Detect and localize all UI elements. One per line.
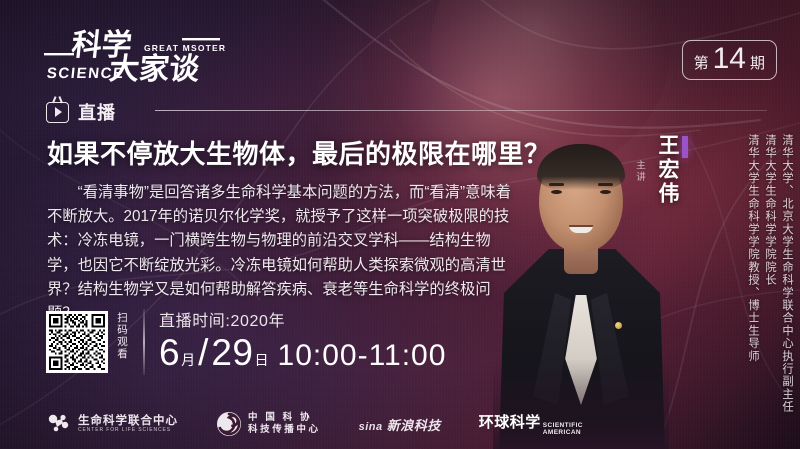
svg-text:GREAT MSOTER: GREAT MSOTER bbox=[144, 43, 226, 53]
sciam-name-cn: 环球科学 bbox=[479, 411, 541, 432]
schedule-day: 29 bbox=[211, 334, 253, 371]
sina-wordmark-cn: 新浪科技 bbox=[387, 418, 441, 433]
sponsor-logo-sciam: 环球科学 SCIENTIFIC AMERICAN bbox=[479, 411, 583, 437]
tv-play-icon bbox=[46, 102, 69, 123]
accent-bar bbox=[682, 136, 688, 158]
cls-mark-icon bbox=[46, 411, 72, 437]
description-paragraph: “看清事物”是回答诸多生命科学基本问题的方法，而“看清”意味着不断放大。2017… bbox=[47, 181, 517, 326]
qr-caption: 扫码观看 bbox=[115, 312, 128, 372]
page-title: 如果不停放大生物体，最后的极限在哪里？ bbox=[47, 134, 551, 171]
schedule-month: 6 bbox=[159, 334, 180, 371]
speaker-info: 清华大学生命科学学院教授、博士生导师 清华大学生命科学学院院长 清华大学、北京大… bbox=[743, 134, 794, 374]
speaker-title-2: 清华大学生命科学学院院长 bbox=[762, 134, 777, 286]
speaker-name-block: 主讲 王宏伟 bbox=[631, 134, 692, 206]
schedule-time: 10:00-11:00 bbox=[278, 341, 447, 371]
sponsor-logo-sina: sina 新浪科技 bbox=[359, 415, 441, 434]
sciam-name-en-line2: AMERICAN bbox=[543, 430, 583, 437]
episode-prefix: 第 bbox=[694, 56, 709, 71]
episode-badge: 第 14 期 bbox=[682, 40, 777, 80]
cast-line-2: 科技传播中心 bbox=[248, 424, 321, 436]
qr-section: 扫码观看 bbox=[46, 311, 128, 373]
cls-name-cn: 生命科学联合中心 bbox=[78, 415, 178, 428]
speaker-role-label: 主讲 bbox=[632, 160, 646, 183]
svg-text:SCIENCE: SCIENCE bbox=[46, 65, 126, 82]
cast-line-1: 中 国 科 协 bbox=[248, 412, 321, 424]
schedule-day-unit: 日 bbox=[255, 353, 269, 367]
cast-spiral-icon bbox=[216, 411, 242, 437]
cls-name-en: CENTER FOR LIFE SCIENCES bbox=[78, 428, 178, 434]
schedule-separator: / bbox=[198, 334, 208, 371]
program-logo: 科学 大家谈 SCIENCE GREAT MSOTER bbox=[44, 24, 234, 86]
qr-date-divider bbox=[143, 309, 145, 375]
schedule-month-unit: 月 bbox=[181, 353, 195, 367]
qr-code[interactable] bbox=[46, 311, 108, 373]
schedule-label: 直播时间:2020年 bbox=[159, 307, 446, 331]
live-label: 直播 bbox=[78, 99, 116, 125]
live-event-poster: 科学 大家谈 SCIENCE GREAT MSOTER 第 14 期 直播 如果… bbox=[0, 0, 800, 449]
live-indicator: 直播 bbox=[46, 99, 116, 125]
sina-wordmark-en: sina bbox=[359, 421, 383, 433]
schedule-block: 直播时间:2020年 6 月 / 29 日 10:00-11:00 bbox=[159, 307, 446, 371]
speaker-name: 王宏伟 bbox=[652, 134, 682, 206]
speaker-title-1: 清华大学、北京大学生命科学联合中心执行副主任 bbox=[779, 134, 794, 413]
sponsor-logos: 生命科学联合中心 CENTER FOR LIFE SCIENCES 中 国 科 … bbox=[46, 411, 583, 437]
episode-number: 14 bbox=[711, 44, 748, 74]
speaker-title-3: 清华大学生命科学学院教授、博士生导师 bbox=[745, 134, 760, 363]
sponsor-logo-cast: 中 国 科 协 科技传播中心 bbox=[216, 411, 321, 437]
episode-suffix: 期 bbox=[750, 56, 765, 71]
header-divider bbox=[155, 110, 767, 111]
sponsor-logo-cls: 生命科学联合中心 CENTER FOR LIFE SCIENCES bbox=[46, 411, 178, 437]
